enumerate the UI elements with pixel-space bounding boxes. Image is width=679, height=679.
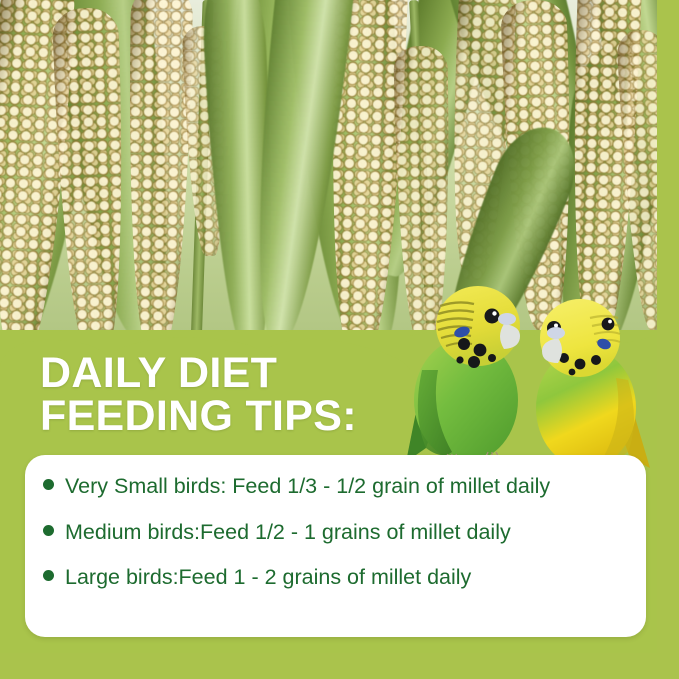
feeding-tips-list: Very Small birds: Feed 1/3 - 1/2 grain o…	[43, 474, 634, 590]
tip-text: Medium birds:Feed 1/2 - 1 grains of mill…	[65, 520, 511, 545]
budgerigar-yellow-bird	[524, 288, 656, 474]
bullet-icon	[43, 570, 54, 581]
tip-text: Large birds:Feed 1 - 2 grains of millet …	[65, 565, 471, 590]
frame-right-border	[657, 0, 679, 679]
frame-bottom-border	[0, 653, 679, 679]
tip-text: Very Small birds: Feed 1/3 - 1/2 grain o…	[65, 474, 550, 499]
title-line-2: FEEDING TIPS:	[40, 395, 460, 438]
feeding-tips-card: Very Small birds: Feed 1/3 - 1/2 grain o…	[25, 455, 646, 637]
list-item: Medium birds:Feed 1/2 - 1 grains of mill…	[43, 520, 634, 545]
bullet-icon	[43, 479, 54, 490]
title-line-1: DAILY DIET	[40, 352, 460, 395]
list-item: Very Small birds: Feed 1/3 - 1/2 grain o…	[43, 474, 634, 499]
eye	[602, 318, 615, 331]
cere	[547, 327, 565, 339]
product-infographic: DAILY DIET FEEDING TIPS: Very Small bird…	[0, 0, 679, 679]
bullet-icon	[43, 525, 54, 536]
eye	[485, 309, 500, 324]
cere	[498, 313, 516, 325]
page-title: DAILY DIET FEEDING TIPS:	[40, 352, 460, 438]
list-item: Large birds:Feed 1 - 2 grains of millet …	[43, 565, 634, 590]
